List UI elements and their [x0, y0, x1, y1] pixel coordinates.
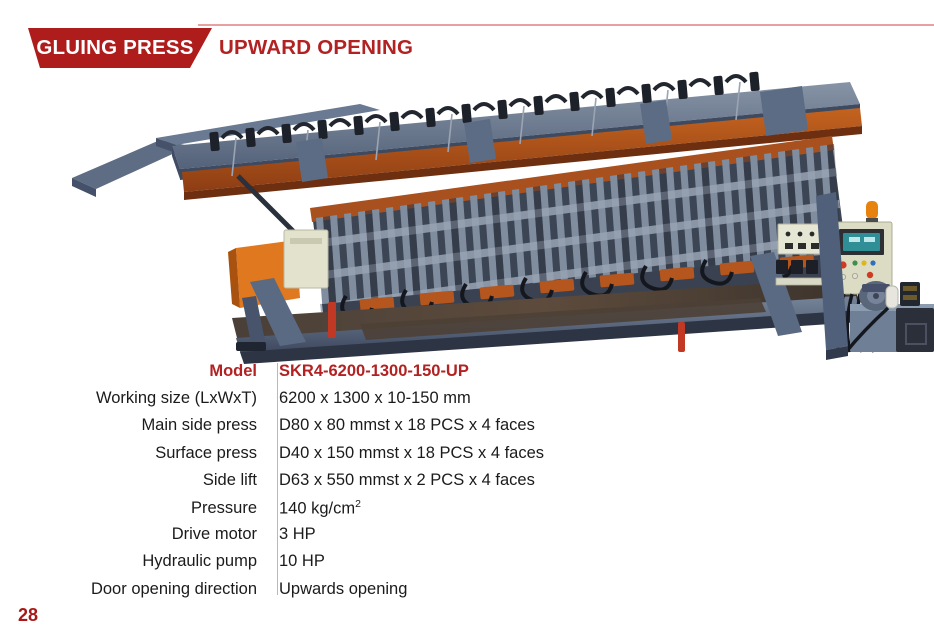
- spec-label: Working size (LxWxT): [0, 389, 268, 408]
- spec-value: 140 kg/cm2: [268, 498, 361, 519]
- spec-value-text: 140 kg/cm: [279, 499, 355, 517]
- spec-table-divider: [277, 363, 278, 595]
- beacon-light: [866, 201, 878, 219]
- spec-label: Drive motor: [0, 525, 268, 544]
- hydraulic-reservoir: [896, 308, 934, 352]
- machine-photo: [60, 46, 934, 366]
- spec-value: 3 HP: [268, 525, 316, 544]
- specification-table: Model SKR4-6200-1300-150-UP Working size…: [0, 362, 640, 607]
- table-row: Working size (LxWxT) 6200 x 1300 x 10-15…: [0, 389, 640, 416]
- table-row: Pressure 140 kg/cm2: [0, 498, 640, 525]
- red-post: [328, 302, 336, 338]
- gluing-press-illustration: [60, 46, 934, 366]
- spec-label: Pressure: [0, 499, 268, 518]
- page-number: 28: [18, 605, 38, 626]
- spec-value: Upwards opening: [268, 580, 407, 599]
- spec-value: D40 x 150 mmst x 18 PCS x 4 faces: [268, 444, 544, 463]
- header-banner-label: GLUING PRESS: [18, 28, 212, 68]
- table-row: Drive motor 3 HP: [0, 525, 640, 552]
- spec-value-superscript: 2: [355, 498, 361, 510]
- spec-label: Model: [0, 362, 268, 381]
- table-row: Side lift D63 x 550 mmst x 2 PCS x 4 fac…: [0, 471, 640, 498]
- spec-value: SKR4-6200-1300-150-UP: [268, 362, 469, 381]
- spec-label: Door opening direction: [0, 580, 268, 599]
- catalog-page: GLUING PRESS UPWARD OPENING: [0, 0, 934, 634]
- table-row: Surface press D40 x 150 mmst x 18 PCS x …: [0, 444, 640, 471]
- table-row: Main side press D80 x 80 mmst x 18 PCS x…: [0, 416, 640, 443]
- spec-label: Main side press: [0, 416, 268, 435]
- spec-label: Hydraulic pump: [0, 552, 268, 571]
- header-rule: [198, 24, 934, 26]
- spec-label: Side lift: [0, 471, 268, 490]
- table-row: Model SKR4-6200-1300-150-UP: [0, 362, 640, 389]
- spec-value: D63 x 550 mmst x 2 PCS x 4 faces: [268, 471, 535, 490]
- spec-label: Surface press: [0, 444, 268, 463]
- table-row: Door opening direction Upwards opening: [0, 580, 640, 607]
- spec-value: D80 x 80 mmst x 18 PCS x 4 faces: [268, 416, 535, 435]
- table-row: Hydraulic pump 10 HP: [0, 552, 640, 579]
- header-subtitle: UPWARD OPENING: [219, 29, 413, 67]
- spec-value: 6200 x 1300 x 10-150 mm: [268, 389, 471, 408]
